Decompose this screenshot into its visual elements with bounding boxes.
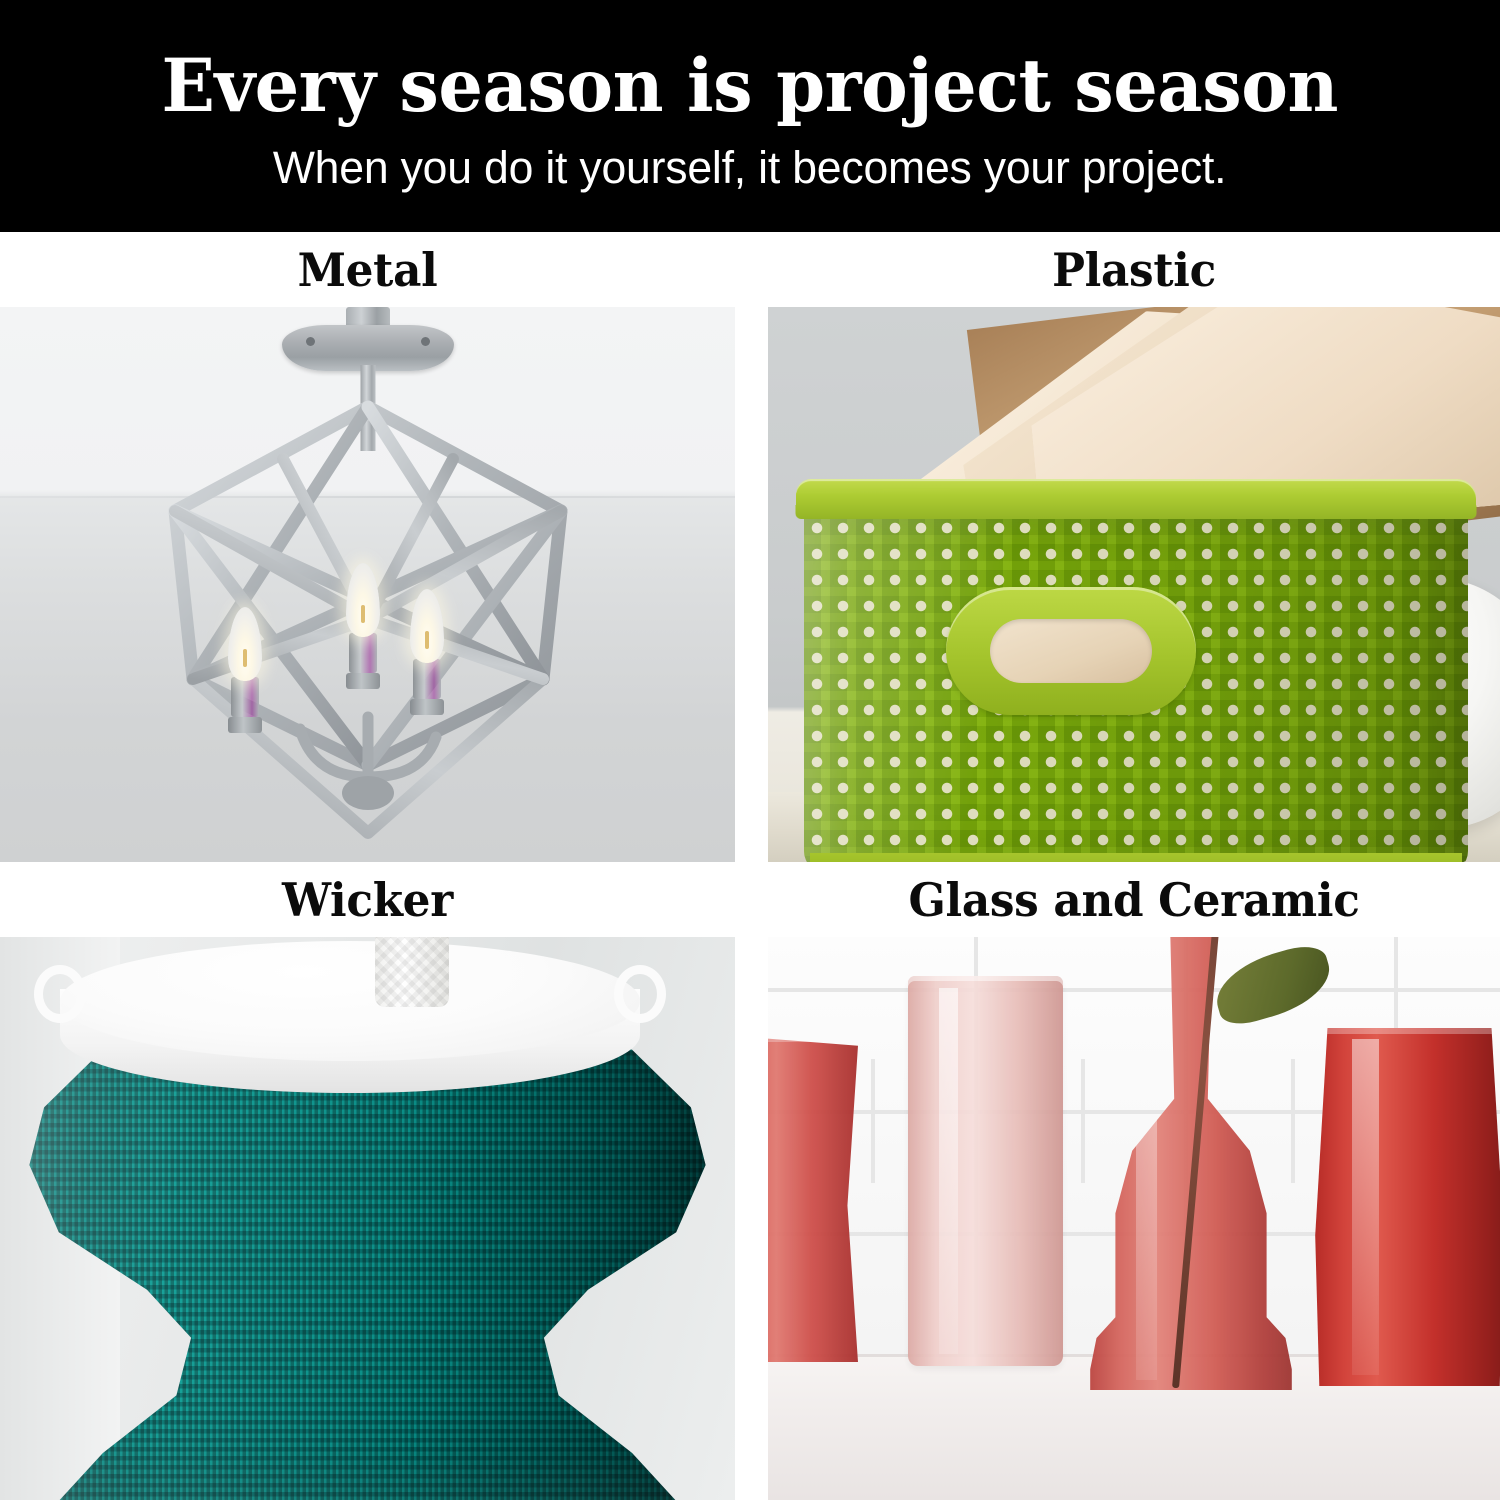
white-round-tray [60,941,640,1091]
bulb-collar-center [346,673,380,689]
grid-cell-wicker: Wicker [0,862,735,1500]
tray-handle-right [614,965,666,1023]
canopy-screw-right [421,337,430,346]
plastic-photo [768,307,1500,862]
bulb-center [346,563,380,689]
banner-subheadline: When you do it yourself, it becomes your… [273,145,1227,190]
bulb-socket-center [349,633,377,673]
basket-foot [810,853,1462,862]
material-grid: Metal [0,232,1500,1500]
grid-cell-plastic: Plastic [768,232,1500,862]
bulb-right [410,589,444,715]
ceiling-canopy [282,307,454,373]
bulb-socket-right [413,659,441,699]
bulb-glass-right [410,589,444,663]
grid-cell-metal: Metal [0,232,735,862]
grid-cell-glass-ceramic: Glass and Ceramic [768,862,1500,1500]
deep-red-tumbler-vase [1307,1028,1500,1386]
cell-label-metal: Metal [18,232,716,307]
tray-handle-left [34,965,86,1023]
metal-photo [0,307,735,862]
canopy-screw-left [306,337,315,346]
glass-ceramic-photo [768,937,1500,1500]
red-tapered-vase [768,1036,858,1362]
basket-rim [795,479,1477,519]
wicker-photo [0,937,735,1500]
bulb-glass-center [346,563,380,637]
pink-cylinder-vase [908,976,1063,1366]
tray-top [60,941,640,1061]
bulb-glass-left [228,607,262,681]
cell-label-glass-ceramic: Glass and Ceramic [786,862,1481,937]
header-banner: Every season is project season When you … [0,0,1500,232]
banner-headline: Every season is project season [162,50,1338,123]
green-plastic-basket [796,479,1476,862]
cell-label-wicker: Wicker [18,862,716,937]
fixture-arms [238,707,498,827]
basket-handle-cutout [946,587,1196,715]
cell-label-plastic: Plastic [786,232,1481,307]
white-textured-vase [375,937,449,1007]
